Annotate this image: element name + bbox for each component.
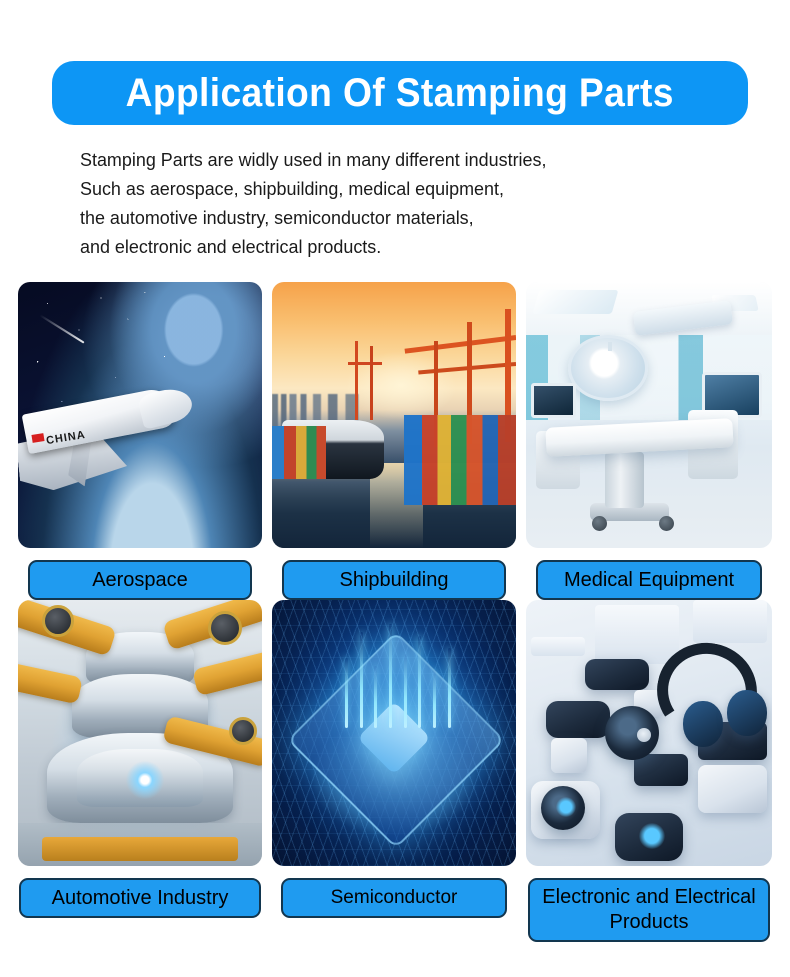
shipbuilding-photo — [272, 282, 516, 548]
gallery-item-shipbuilding: Shipbuilding — [272, 282, 516, 600]
gallery-item-aerospace: CHINA Aerospace — [18, 282, 262, 600]
ceiling-light-panel-1 — [532, 290, 618, 314]
light-beam-6 — [418, 636, 421, 728]
application-gallery-grid: CHINA Aerospace Shipbuilding — [18, 282, 772, 942]
right-container-stack — [404, 415, 516, 505]
caster-wheel-2 — [659, 516, 674, 531]
caption-semiconductor[interactable]: Semiconductor — [281, 878, 507, 918]
gallery-item-medical-equipment: Medical Equipment — [526, 282, 772, 600]
semiconductor-photo — [272, 600, 516, 866]
device-charger-dock — [698, 765, 767, 813]
led-accent-2 — [556, 797, 576, 817]
light-beam-4 — [389, 624, 392, 728]
intro-line-2: Such as aerospace, shipbuilding, medical… — [80, 174, 711, 203]
caption-electronic-electrical-products[interactable]: Electronic and Electrical Products — [528, 878, 770, 942]
light-beam-5 — [404, 654, 407, 728]
medical-photo — [526, 282, 772, 548]
intro-line-3: the automotive industry, semiconductor m… — [80, 203, 711, 232]
intro-line-4: and electronic and electrical products. — [80, 232, 711, 261]
left-container-stack — [272, 426, 326, 479]
page-title: Application Of Stamping Parts — [126, 71, 674, 116]
right-crane-boom-1 — [404, 335, 516, 354]
page-title-banner: Application Of Stamping Parts — [52, 61, 748, 125]
caption-row: Semiconductor — [272, 878, 516, 918]
caption-row: Electronic and Electrical Products — [526, 878, 772, 942]
caption-row: Medical Equipment — [526, 560, 772, 600]
device-speaker — [546, 701, 610, 738]
caption-medical-equipment[interactable]: Medical Equipment — [536, 560, 762, 600]
aerospace-photo: CHINA — [18, 282, 262, 548]
operating-table-column — [605, 452, 644, 508]
lamp-arm — [608, 342, 612, 352]
conveyor-rail — [42, 837, 237, 861]
intro-paragraph: Stamping Parts are widly used in many di… — [80, 145, 730, 261]
light-beam-2 — [360, 632, 363, 728]
robot-joint-2 — [208, 611, 242, 645]
surgical-lamp — [568, 335, 648, 401]
headphone-earcup-right — [727, 690, 767, 736]
light-beam-8 — [448, 648, 451, 728]
caption-row: Automotive Industry — [18, 878, 262, 918]
caption-text: Electronic and Electrical Products — [540, 885, 758, 935]
speaker-center-dot — [637, 728, 651, 742]
background-panel-1 — [595, 605, 679, 664]
caption-row: Aerospace — [18, 560, 262, 600]
background-panel-2 — [693, 600, 767, 643]
device-remote — [585, 659, 649, 691]
left-crane-beam — [348, 362, 382, 365]
monitor-left — [531, 383, 576, 418]
gallery-item-automotive-industry: Automotive Industry — [18, 600, 262, 942]
electronics-photo — [526, 600, 772, 866]
caption-shipbuilding[interactable]: Shipbuilding — [282, 560, 506, 600]
keyboard-blurred — [531, 637, 585, 656]
welding-spark — [125, 760, 165, 800]
headphone-earcup-left — [683, 701, 723, 747]
device-capsule — [551, 738, 588, 773]
light-beam-7 — [433, 670, 436, 728]
caster-wheel-1 — [592, 516, 607, 531]
caption-automotive-industry[interactable]: Automotive Industry — [19, 878, 261, 918]
intro-line-1: Stamping Parts are widly used in many di… — [80, 145, 711, 174]
left-crane-mast-2 — [370, 346, 373, 420]
gallery-item-electronic-electrical-products: Electronic and Electrical Products — [526, 600, 772, 942]
device-phone — [634, 754, 688, 786]
automotive-photo — [18, 600, 262, 866]
caption-aerospace[interactable]: Aerospace — [28, 560, 252, 600]
robot-joint-3 — [229, 717, 257, 745]
light-beam-1 — [345, 658, 348, 728]
left-crane-mast-1 — [355, 341, 358, 421]
caption-row: Shipbuilding — [272, 560, 516, 600]
gallery-item-semiconductor: Semiconductor — [272, 600, 516, 942]
